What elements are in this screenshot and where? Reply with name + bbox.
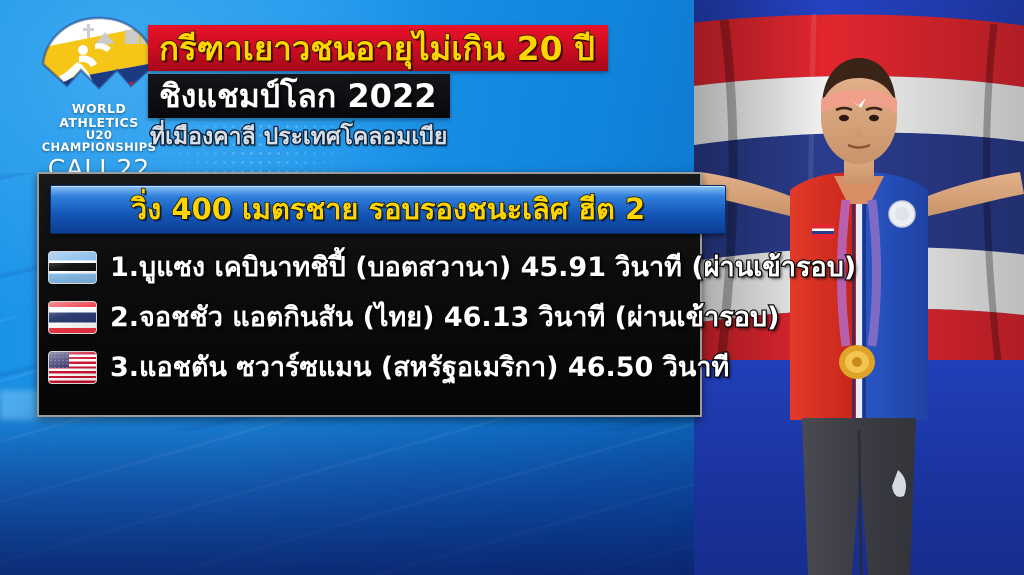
world-athletics-logo-icon [39, 14, 159, 100]
botswana-flag-icon [48, 251, 97, 284]
result-row-2-text: 2.จอชชัว แอตกินสัน (ไทย) 46.13 วินาที (ผ… [110, 304, 779, 331]
headline-line-1: กรีฑาเยาวชนอายุไม่เกิน 20 ปี [148, 25, 608, 71]
event-logo: WORLD ATHLETICS U20 CHAMPIONSHIPS CALI 2… [36, 14, 162, 166]
result-row-2: 2.จอชชัว แอตกินสัน (ไทย) 46.13 วินาที (ผ… [48, 298, 948, 336]
results-list: 1.บูแซง เคบินาทชิปี้ (บอตสวานา) 45.91 วิ… [48, 248, 948, 398]
headline-line-2-text: ชิงแชมป์โลก 2022 [159, 80, 436, 112]
result-row-3: 3.แอชตัน ซวาร์ซแมน (สหรัฐอเมริกา) 46.50 … [48, 348, 948, 386]
headline-line-1-text: กรีฑาเยาวชนอายุไม่เกิน 20 ปี [159, 32, 595, 65]
event-title-bar: วิ่ง 400 เมตรชาย รอบรองชนะเลิศ ฮีต 2 [50, 185, 726, 234]
logo-line-2: U20 CHAMPIONSHIPS [36, 129, 162, 154]
logo-line-1: WORLD ATHLETICS [36, 102, 162, 129]
headline-line-3-text: ที่เมืองคาลี ประเทศโคลอมเบีย [150, 126, 447, 149]
result-row-1: 1.บูแซง เคบินาทชิปี้ (บอตสวานา) 45.91 วิ… [48, 248, 948, 286]
headline-line-3: ที่เมืองคาลี ประเทศโคลอมเบีย [150, 126, 447, 149]
thailand-flag-icon [48, 301, 97, 334]
broadcast-graphic: WORLD ATHLETICS U20 CHAMPIONSHIPS CALI 2… [0, 0, 1024, 575]
result-row-3-text: 3.แอชตัน ซวาร์ซแมน (สหรัฐอเมริกา) 46.50 … [110, 354, 729, 381]
result-row-1-text: 1.บูแซง เคบินาทชิปี้ (บอตสวานา) 45.91 วิ… [110, 254, 856, 281]
headline-line-2: ชิงแชมป์โลก 2022 [148, 74, 450, 118]
usa-flag-icon [48, 351, 97, 384]
event-title-text: วิ่ง 400 เมตรชาย รอบรองชนะเลิศ ฮีต 2 [131, 195, 645, 224]
